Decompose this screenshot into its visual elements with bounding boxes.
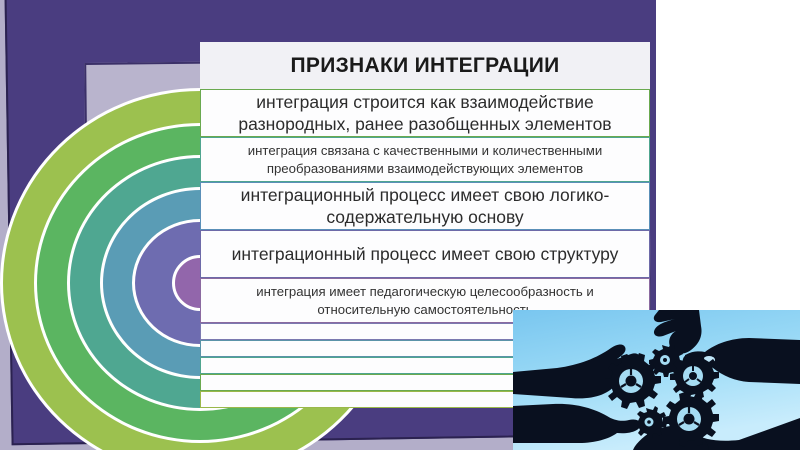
table-row: интеграция строится как взаимодействие р… — [200, 89, 650, 137]
hands-and-gears-photo — [513, 310, 800, 450]
table-row: интеграционный процесс имеет свою логико… — [200, 182, 650, 230]
hands-gears-illustration — [513, 310, 800, 450]
table-row: интеграционный процесс имеет свою структ… — [200, 230, 650, 278]
table-row: интеграция связана с качественными и кол… — [200, 137, 650, 182]
slide-screenshot: ПРИЗНАКИ ИНТЕГРАЦИИ интеграция строится … — [0, 0, 800, 450]
table-title: ПРИЗНАКИ ИНТЕГРАЦИИ — [200, 42, 650, 89]
